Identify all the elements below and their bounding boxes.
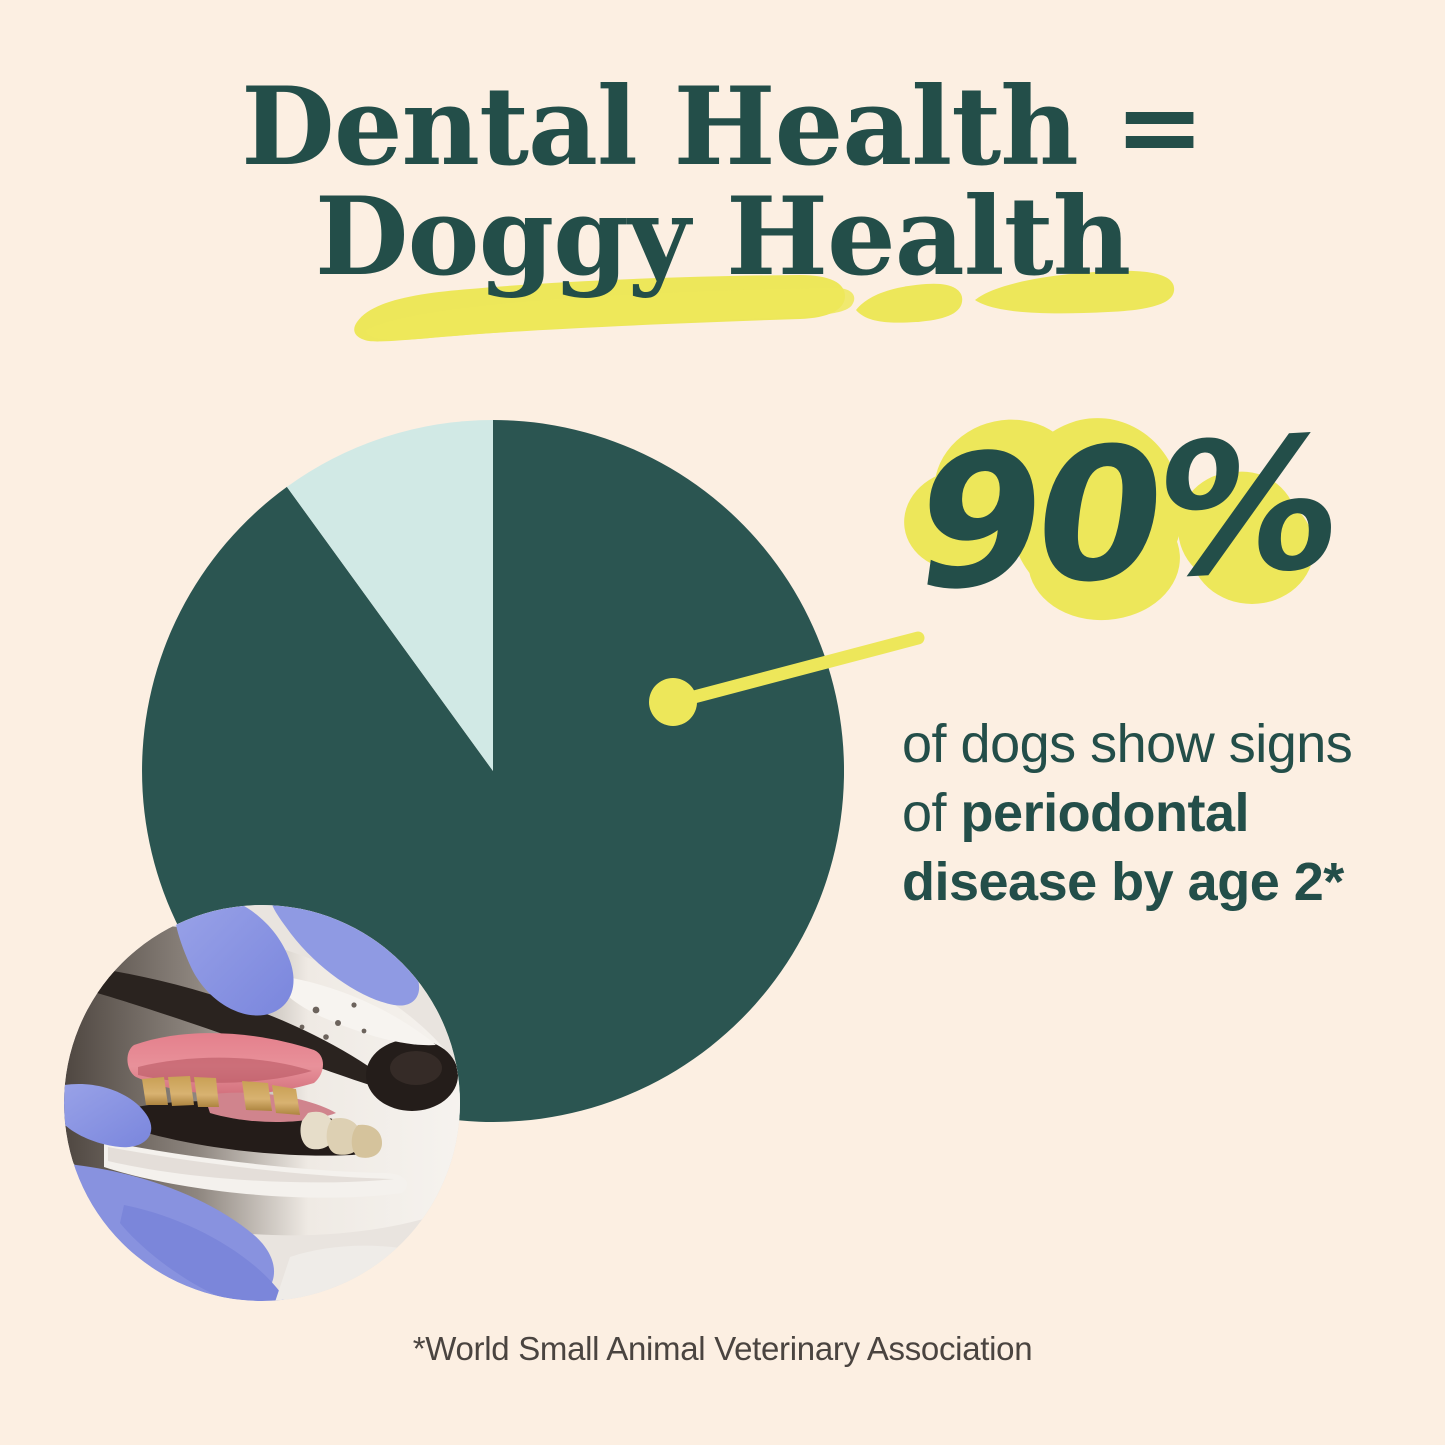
stat-block: 90% of dogs show signs of periodontal di… [890, 410, 1360, 700]
percent-callout: 90% [890, 410, 1360, 700]
dog-teeth-photo [64, 905, 460, 1301]
percent-value: 90% [912, 412, 1339, 616]
callout-line [675, 638, 918, 702]
callout-dot [649, 678, 697, 726]
stat-copy-bold: periodontal disease by age 2* [902, 783, 1344, 912]
page-title: Dental Health = Doggy Health [0, 72, 1445, 292]
footnote-source: *World Small Animal Veterinary Associati… [0, 1330, 1445, 1368]
title-line-1: Dental Health = [0, 72, 1445, 182]
infographic-poster: Dental Health = Doggy Health [0, 0, 1445, 1445]
stat-description: of dogs show signs of periodontal diseas… [902, 710, 1372, 917]
title-line-2: Doggy Health [0, 182, 1445, 292]
